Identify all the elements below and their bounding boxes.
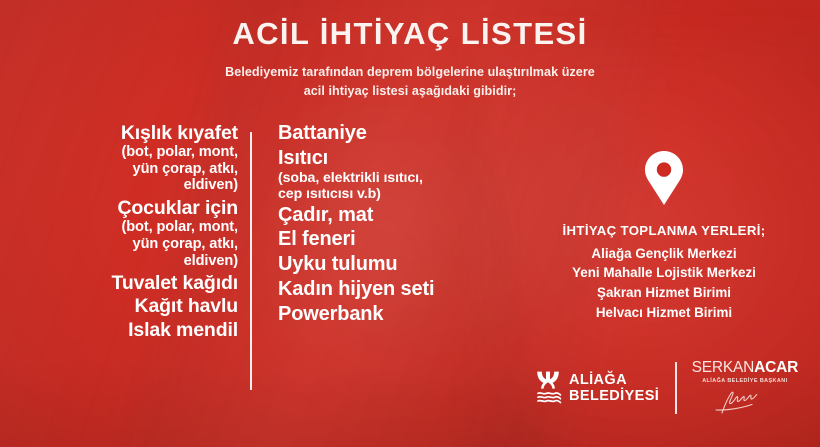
need-item-label: Isıtıcı (278, 147, 528, 170)
need-item-label: Çocuklar için (6, 197, 238, 219)
municipality-logo-text: ALİAĞA BELEDİYESİ (569, 373, 659, 404)
need-item-label: Kağıt havlu (6, 295, 238, 317)
collection-point: Şakran Hizmet Birimi (528, 283, 800, 303)
poster-canvas: ACİL İHTİYAÇ LİSTESİ Belediyemiz tarafın… (0, 0, 820, 447)
need-item: El feneri (278, 228, 528, 251)
need-item-detail: (bot, polar, mont, (6, 144, 238, 161)
need-item-label: Battaniye (278, 122, 528, 145)
mayor-first-name: SERKAN (692, 359, 755, 376)
need-item-detail: yün çorap, atkı, (6, 236, 238, 253)
need-item-detail: (bot, polar, mont, (6, 219, 238, 236)
subtitle-line-2: acil ihtiyaç listesi aşağıdaki gibidir; (0, 82, 820, 101)
need-item-label: El feneri (278, 228, 528, 251)
poster-header: ACİL İHTİYAÇ LİSTESİ Belediyemiz tarafın… (0, 18, 820, 101)
need-item: Çocuklar için (bot, polar, mont, yün çor… (6, 197, 238, 269)
subtitle-line-1: Belediyemiz tarafından deprem bölgelerin… (0, 63, 820, 82)
aliaga-belediyesi-logo-icon (534, 370, 562, 406)
municipality-logo-line-1: ALİAĞA (569, 373, 659, 388)
municipality-logo-line-2: BELEDİYESİ (569, 389, 659, 404)
collection-points-column: İHTİYAÇ TOPLANMA YERLERİ; Aliağa Gençlik… (528, 122, 800, 322)
municipality-logo: ALİAĞA BELEDİYESİ (534, 370, 659, 406)
needs-column-left: Kışlık kıyafet (bot, polar, mont, yün ço… (6, 122, 238, 342)
poster-subtitle: Belediyemiz tarafından deprem bölgelerin… (0, 63, 820, 101)
need-item-label: Islak mendil (6, 319, 238, 341)
mayor-last-name: ACAR (754, 359, 798, 376)
need-item-label: Çadır, mat (278, 204, 528, 227)
handwritten-signature-icon (710, 386, 780, 416)
need-item-label: Tuvalet kağıdı (6, 272, 238, 294)
need-item: Kışlık kıyafet (bot, polar, mont, yün ço… (6, 122, 238, 194)
need-item-detail: eldiven) (6, 177, 238, 194)
need-item: Battaniye (278, 122, 528, 145)
footer-logos: ALİAĞA BELEDİYESİ SERKANACAR ALİAĞA BELE… (534, 355, 806, 421)
need-item: Islak mendil (6, 319, 238, 341)
need-item: Powerbank (278, 303, 528, 326)
mayor-role: ALİAĞA BELEDİYE BAŞKANI (702, 378, 787, 384)
collection-point: Aliağa Gençlik Merkezi (528, 244, 800, 264)
need-item-detail: yün çorap, atkı, (6, 161, 238, 178)
need-item-label: Powerbank (278, 303, 528, 326)
need-item-label: Uyku tulumu (278, 253, 528, 276)
collection-point: Yeni Mahalle Lojistik Merkezi (528, 263, 800, 283)
need-item-label: Kışlık kıyafet (6, 122, 238, 144)
need-item: Çadır, mat (278, 204, 528, 227)
collection-points-heading: İHTİYAÇ TOPLANMA YERLERİ; (528, 222, 800, 240)
location-pin-icon (528, 150, 800, 206)
mayor-name: SERKANACAR (692, 360, 799, 376)
need-item: Isıtıcı (soba, elektrikli ısıtıcı, cep ı… (278, 147, 528, 202)
mayor-logo: SERKANACAR ALİAĞA BELEDİYE BAŞKANI (692, 360, 799, 417)
need-item: Kadın hijyen seti (278, 278, 528, 301)
need-item-detail: (soba, elektrikli ısıtıcı, (278, 170, 528, 186)
need-item: Tuvalet kağıdı (6, 272, 238, 294)
need-item-detail: eldiven) (6, 253, 238, 270)
needs-column-middle: Battaniye Isıtıcı (soba, elektrikli ısıt… (278, 122, 528, 328)
need-item-label: Kadın hijyen seti (278, 278, 528, 301)
page-title: ACİL İHTİYAÇ LİSTESİ (0, 18, 820, 50)
need-item-detail: cep ısıtıcısı v.b) (278, 186, 528, 202)
footer-logo-separator (675, 362, 676, 414)
need-item: Uyku tulumu (278, 253, 528, 276)
need-item: Kağıt havlu (6, 295, 238, 317)
collection-point: Helvacı Hizmet Birimi (528, 303, 800, 323)
